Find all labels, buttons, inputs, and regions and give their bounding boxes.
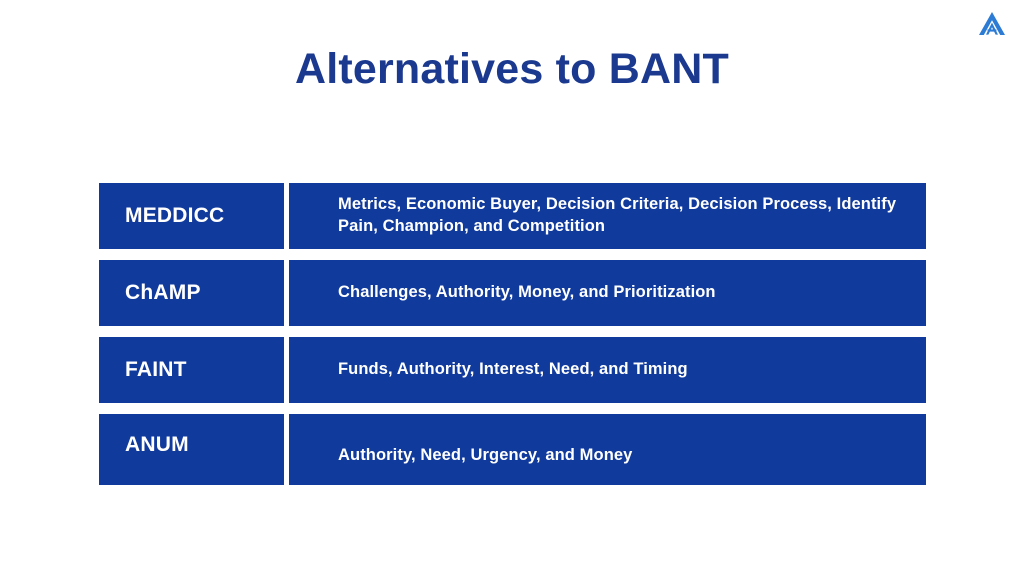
table-row-label: ANUM (99, 414, 284, 485)
table-row-description: Authority, Need, Urgency, and Money (289, 414, 926, 485)
table-row-description: Metrics, Economic Buyer, Decision Criter… (289, 183, 926, 249)
table-row-description: Funds, Authority, Interest, Need, and Ti… (289, 337, 926, 403)
table-row-description: Challenges, Authority, Money, and Priori… (289, 260, 926, 326)
table-row-label: MEDDICC (99, 183, 284, 249)
table-row: MEDDICC Metrics, Economic Buyer, Decisio… (99, 183, 926, 249)
mountain-a-logo-icon (976, 10, 1008, 38)
table-row: FAINT Funds, Authority, Interest, Need, … (99, 337, 926, 403)
table-row: ANUM Authority, Need, Urgency, and Money (99, 414, 926, 485)
table-row-label: FAINT (99, 337, 284, 403)
slide-canvas: Alternatives to BANT MEDDICC Metrics, Ec… (0, 0, 1024, 576)
alternatives-table: MEDDICC Metrics, Economic Buyer, Decisio… (99, 183, 926, 485)
table-row: ChAMP Challenges, Authority, Money, and … (99, 260, 926, 326)
table-row-label: ChAMP (99, 260, 284, 326)
page-title: Alternatives to BANT (0, 46, 1024, 93)
